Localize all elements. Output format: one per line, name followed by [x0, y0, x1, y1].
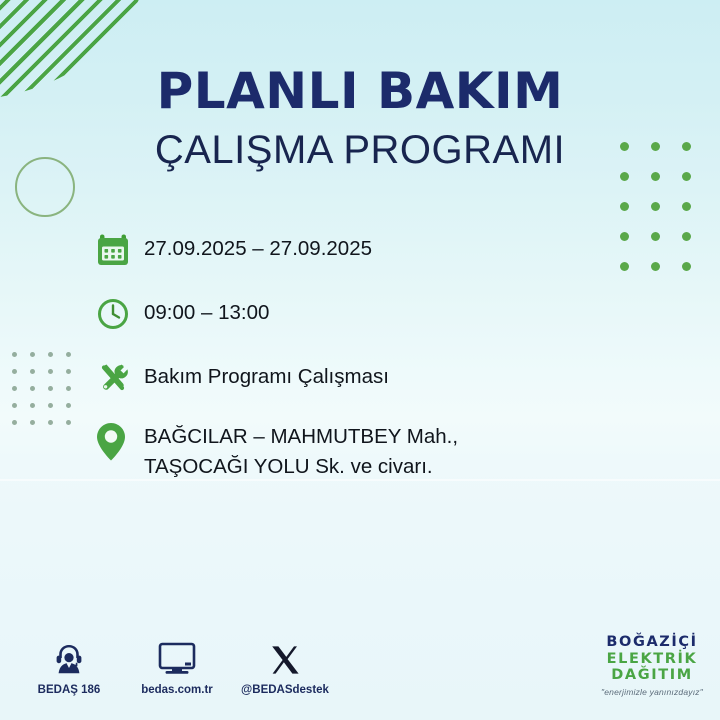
info-row-location: BAĞCILAR – MAHMUTBEY Mah., TAŞOCAĞI YOLU… — [96, 420, 656, 482]
footer-contacts: BEDAŞ 186 bedas.com.tr @BEDASdestek — [28, 640, 326, 696]
work-type-text: Bakım Programı Çalışması — [144, 356, 389, 392]
time-range-text: 09:00 – 13:00 — [144, 292, 269, 328]
calendar-icon — [96, 228, 144, 272]
contact-x-account[interactable]: @BEDASdestek — [244, 640, 326, 696]
tools-icon — [96, 356, 144, 400]
logo-line-elektrik: ELEKTRİK — [594, 651, 710, 668]
contact-website-label: bedas.com.tr — [141, 684, 213, 696]
info-row-time: 09:00 – 13:00 — [96, 292, 656, 336]
logo-line-bogazici: BOĞAZİÇİ — [594, 634, 710, 651]
dot-grid-left-decoration — [12, 352, 84, 437]
contact-website[interactable]: bedas.com.tr — [136, 640, 218, 696]
poster-heading: PLANLI BAKIM ÇALIŞMA PROGRAMI — [0, 66, 720, 170]
page-subtitle: ÇALIŞMA PROGRAMI — [0, 130, 720, 170]
info-row-work-type: Bakım Programı Çalışması — [96, 356, 656, 400]
info-row-date: 27.09.2025 – 27.09.2025 — [96, 228, 656, 272]
location-text: BAĞCILAR – MAHMUTBEY Mah., TAŞOCAĞI YOLU… — [144, 420, 458, 482]
location-pin-icon — [96, 420, 144, 464]
clock-icon — [96, 292, 144, 336]
contact-call-center-label: BEDAŞ 186 — [38, 684, 101, 696]
headset-operator-icon — [52, 640, 86, 676]
company-logo: BOĞAZİÇİ ELEKTRİK DAĞITIM "enerjimizle y… — [594, 634, 710, 697]
contact-call-center[interactable]: BEDAŞ 186 — [28, 640, 110, 696]
x-twitter-icon — [269, 640, 301, 676]
monitor-icon — [158, 640, 196, 676]
logo-tagline: "enerjimizle yanınızdayız" — [594, 687, 710, 697]
planned-maintenance-poster: PLANLI BAKIM ÇALIŞMA PROGRAMI — [0, 0, 720, 720]
page-title: PLANLI BAKIM — [0, 66, 720, 116]
contact-x-account-label: @BEDASdestek — [241, 684, 329, 696]
maintenance-details-list: 27.09.2025 – 27.09.2025 09:00 – 13:00 — [96, 228, 656, 482]
date-range-text: 27.09.2025 – 27.09.2025 — [144, 228, 372, 264]
logo-line-dagitim: DAĞITIM — [594, 667, 710, 684]
